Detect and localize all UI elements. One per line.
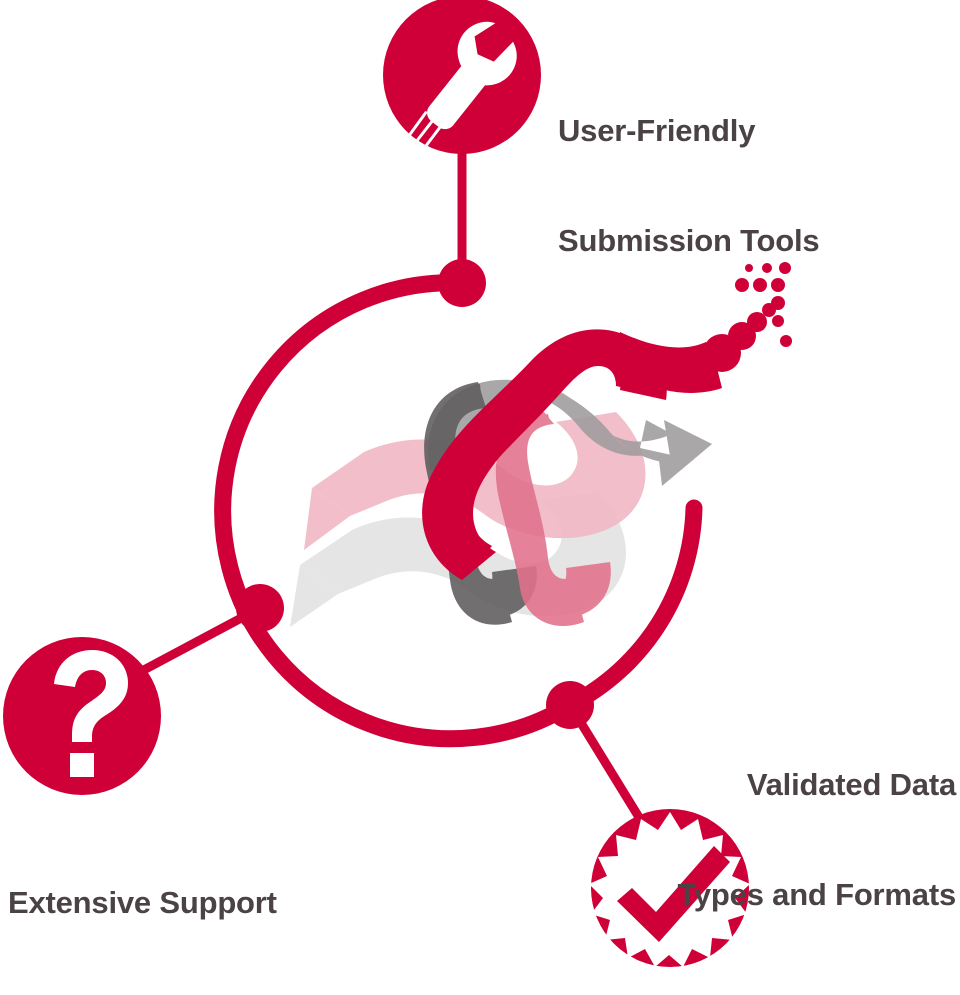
label-extensive-support: Extensive Support xyxy=(8,812,277,995)
label-line-2: Submission Tools xyxy=(558,223,819,260)
infographic-stage: User-Friendly Submission Tools Validated… xyxy=(0,0,960,974)
label-line-1: Validated Data xyxy=(677,767,956,804)
label-user-friendly-submission-tools: User-Friendly Submission Tools xyxy=(558,40,819,333)
label-validated-data-types-and-formats: Validated Data Types and Formats xyxy=(677,694,960,987)
label-line-1: Extensive Support xyxy=(8,885,277,922)
ring-node-top[interactable] xyxy=(438,259,486,307)
badge-user-friendly-submission-tools[interactable] xyxy=(383,0,541,155)
ring-node-bottom-right[interactable] xyxy=(546,681,594,729)
badge-extensive-support[interactable] xyxy=(3,637,161,795)
label-line-1: User-Friendly xyxy=(558,113,819,150)
label-line-2: Types and Formats xyxy=(677,877,956,914)
ring-node-left[interactable] xyxy=(236,584,284,632)
